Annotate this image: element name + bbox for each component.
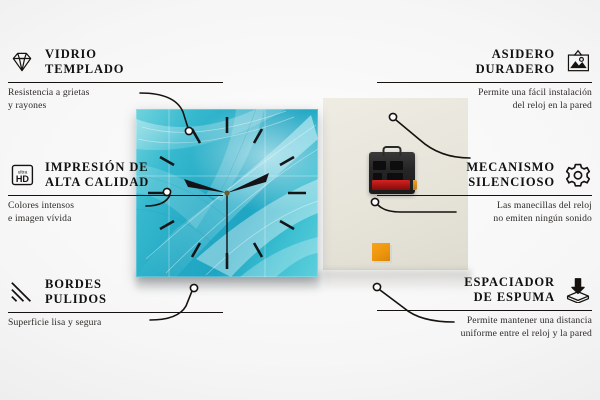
ultra-hd-icon: ultra HD [8,162,36,188]
feature-header: ESPACIADOR DE ESPUMA [377,275,592,305]
feature-desc-line: e imagen vívida [8,213,223,226]
feature-title-line: BORDES [45,277,107,292]
foam-spacer-piece [372,243,390,261]
feature-title: MECANISMO SILENCIOSO [466,160,555,190]
feature-description: Colores intensos e imagen vívida [8,200,223,225]
feature-title-line: MECANISMO [466,160,555,175]
feature-header: VIDRIO TEMPLADO [8,47,223,77]
feature-desc-line: del reloj en la pared [377,100,592,113]
feature-desc-line: y rayones [8,100,223,113]
feature-divider [8,82,223,83]
feature-header: ASIDERO DURADERO [377,47,592,77]
feature-desc-line: Colores intensos [8,200,223,213]
feature-vidrio-templado: VIDRIO TEMPLADO Resistencia a grietas y … [8,47,223,112]
infographic-stage: VIDRIO TEMPLADO Resistencia a grietas y … [0,0,600,400]
feature-title: ESPACIADOR DE ESPUMA [464,275,555,305]
feature-mecanismo-silencioso: MECANISMO SILENCIOSO Las manecillas del … [377,160,592,225]
feature-title: VIDRIO TEMPLADO [45,47,124,77]
hanging-frame-icon [564,49,592,75]
feature-desc-line: Superficie lisa y segura [8,317,223,330]
feature-impresion-alta-calidad: ultra HD IMPRESIÓN DE ALTA CALIDAD Color… [8,160,223,225]
feature-header: BORDES PULIDOS [8,277,223,307]
feature-header: MECANISMO SILENCIOSO [377,160,592,190]
feature-title-line: DE ESPUMA [464,290,555,305]
feature-title: ASIDERO DURADERO [476,47,555,77]
feature-desc-line: no emiten ningún sonido [377,213,592,226]
feature-desc-line: uniforme entre el reloj y la pared [377,328,592,341]
feature-description: Las manecillas del reloj no emiten ningú… [377,200,592,225]
feature-desc-line: Permite una fácil instalación [377,87,592,100]
diamond-icon [8,49,36,75]
feature-asidero-duradero: ASIDERO DURADERO Permite una fácil insta… [377,47,592,112]
feature-divider [8,195,223,196]
gear-icon [564,162,592,188]
feature-desc-line: Permite mantener una distancia [377,315,592,328]
feature-divider [8,312,223,313]
feature-description: Resistencia a grietas y rayones [8,87,223,112]
feature-header: ultra HD IMPRESIÓN DE ALTA CALIDAD [8,160,223,190]
feature-title-line: ESPACIADOR [464,275,555,290]
feature-title-line: TEMPLADO [45,62,124,77]
diagonal-lines-icon [8,279,36,305]
feature-desc-line: Resistencia a grietas [8,87,223,100]
feature-title-line: SILENCIOSO [466,175,555,190]
feature-title: BORDES PULIDOS [45,277,107,307]
feature-divider [377,310,592,311]
feature-description: Permite una fácil instalación del reloj … [377,87,592,112]
feature-divider [377,195,592,196]
feature-title-line: IMPRESIÓN DE [45,160,149,175]
feature-title-line: VIDRIO [45,47,124,62]
feature-description: Superficie lisa y segura [8,317,223,330]
feature-title-line: ASIDERO [476,47,555,62]
feature-title: IMPRESIÓN DE ALTA CALIDAD [45,160,149,190]
feature-title-line: PULIDOS [45,292,107,307]
feature-divider [377,82,592,83]
foam-spacer-icon [564,277,592,303]
feature-title-line: DURADERO [476,62,555,77]
feature-espaciador-de-espuma: ESPACIADOR DE ESPUMA Permite mantener un… [377,275,592,340]
feature-bordes-pulidos: BORDES PULIDOS Superficie lisa y segura [8,277,223,330]
feature-desc-line: Las manecillas del reloj [377,200,592,213]
ultra-hd-large-text: HD [16,174,30,184]
mechanism-hook [383,146,402,156]
feature-title-line: ALTA CALIDAD [45,175,149,190]
feature-description: Permite mantener una distancia uniforme … [377,315,592,340]
